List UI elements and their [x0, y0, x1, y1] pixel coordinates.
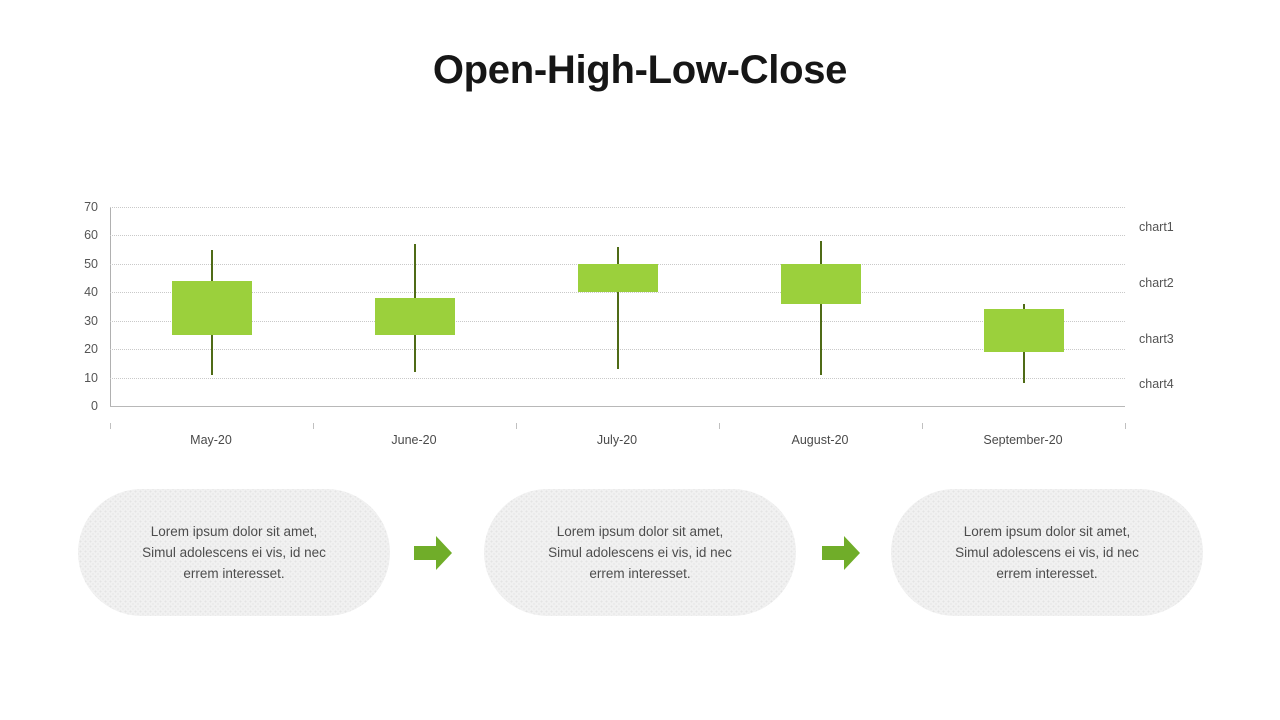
x-tick-0 — [110, 423, 111, 429]
x-tick-5 — [1125, 423, 1126, 429]
y-tick-40: 40 — [62, 286, 98, 298]
legend-item-chart1: chart1 — [1139, 220, 1174, 234]
arrow-right-icon-1 — [412, 533, 454, 573]
legend-item-chart4: chart4 — [1139, 377, 1174, 391]
y-tick-10: 10 — [62, 372, 98, 384]
legend-item-chart3: chart3 — [1139, 332, 1174, 346]
process-step-1-text: Lorem ipsum dolor sit amet, Simul adoles… — [116, 521, 352, 584]
process-step-3-text: Lorem ipsum dolor sit amet, Simul adoles… — [929, 521, 1165, 584]
candle-body-june-20 — [375, 298, 455, 335]
gridline-10 — [110, 378, 1125, 379]
candle-body-september-20 — [984, 309, 1064, 352]
y-tick-20: 20 — [62, 343, 98, 355]
candle-body-may-20 — [172, 281, 252, 335]
x-label-september-20: September-20 — [923, 433, 1123, 447]
y-tick-60: 60 — [62, 229, 98, 241]
x-label-july-20: July-20 — [517, 433, 717, 447]
x-tick-3 — [719, 423, 720, 429]
y-tick-50: 50 — [62, 258, 98, 270]
page-title: Open-High-Low-Close — [0, 46, 1280, 94]
y-tick-70: 70 — [62, 201, 98, 213]
candle-body-july-20 — [578, 264, 658, 292]
gridline-70 — [110, 207, 1125, 208]
process-step-2[interactable]: Lorem ipsum dolor sit amet, Simul adoles… — [484, 489, 796, 616]
candle-body-august-20 — [781, 264, 861, 304]
y-tick-0: 0 — [62, 400, 98, 412]
x-label-june-20: June-20 — [314, 433, 514, 447]
process-step-2-text: Lorem ipsum dolor sit amet, Simul adoles… — [522, 521, 758, 584]
x-label-august-20: August-20 — [720, 433, 920, 447]
x-tick-2 — [516, 423, 517, 429]
x-tick-1 — [313, 423, 314, 429]
x-label-may-20: May-20 — [111, 433, 311, 447]
x-axis-line — [110, 406, 1125, 407]
candle-wick-august-20 — [820, 241, 822, 375]
process-step-1[interactable]: Lorem ipsum dolor sit amet, Simul adoles… — [78, 489, 390, 616]
ohlc-chart: May-20 June-20 July-20 August-20 Septemb… — [0, 190, 1280, 440]
y-tick-30: 30 — [62, 315, 98, 327]
process-step-3[interactable]: Lorem ipsum dolor sit amet, Simul adoles… — [891, 489, 1203, 616]
gridline-60 — [110, 235, 1125, 236]
arrow-right-icon-2 — [820, 533, 862, 573]
plot-area: May-20 June-20 July-20 August-20 Septemb… — [110, 207, 1125, 406]
x-tick-4 — [922, 423, 923, 429]
legend-item-chart2: chart2 — [1139, 276, 1174, 290]
